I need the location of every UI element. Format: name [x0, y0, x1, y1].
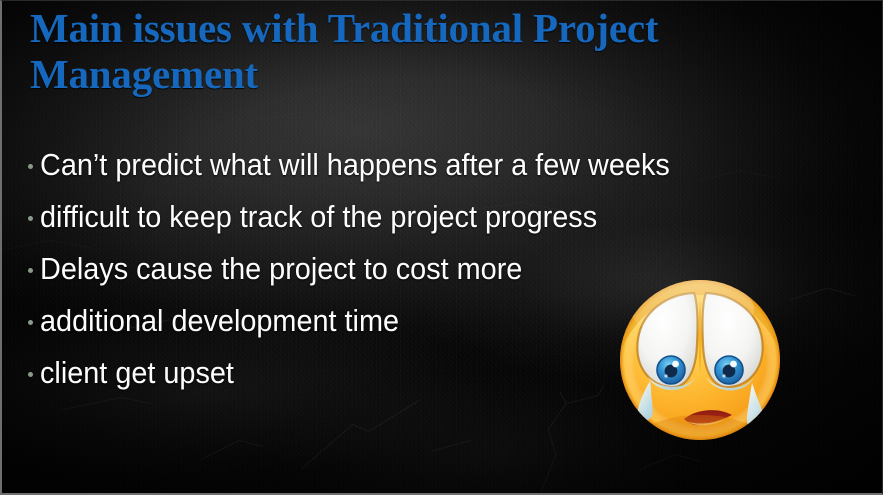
- presentation-slide: Main issues with Traditional Project Man…: [0, 0, 883, 495]
- list-item-label: Delays cause the project to cost more: [40, 252, 522, 286]
- bullet-dot-icon: [28, 320, 33, 325]
- list-item-label: difficult to keep track of the project p…: [40, 200, 597, 234]
- bullet-dot-icon: [28, 164, 33, 169]
- bullet-dot-icon: [28, 268, 33, 273]
- bullet-dot-icon: [28, 372, 33, 377]
- list-item: Can’t predict what will happens after a …: [28, 139, 818, 191]
- crying-sad-face-emoji: [614, 273, 796, 453]
- slide-title: Main issues with Traditional Project Man…: [30, 5, 830, 97]
- list-item-label: Can’t predict what will happens after a …: [40, 148, 670, 182]
- list-item: difficult to keep track of the project p…: [28, 191, 818, 243]
- bullet-dot-icon: [28, 216, 33, 221]
- list-item-label: additional development time: [40, 304, 399, 338]
- list-item-label: client get upset: [40, 356, 234, 390]
